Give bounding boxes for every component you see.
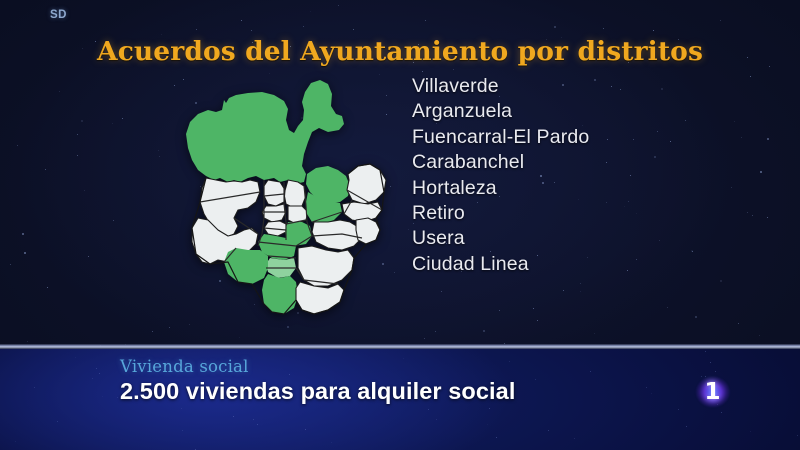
district-list-item: Fuencarral-El Pardo — [412, 125, 712, 150]
district-shape-tetuan — [264, 180, 285, 206]
district-shape-chamberi — [262, 204, 286, 222]
district-list-item: Carabanchel — [412, 150, 712, 175]
district-shape-villa-de-vallecas — [296, 282, 344, 314]
district-shape-chamartin — [284, 180, 306, 208]
district-list-item: Ciudad Linea — [412, 252, 712, 277]
story-headline: 2.500 viviendas para alquiler social — [120, 378, 515, 405]
district-list-item: Retiro — [412, 201, 712, 226]
page-title: Acuerdos del Ayuntamiento por distritos — [0, 36, 800, 67]
channel-logo: 1 — [690, 375, 734, 409]
upper-panel: Acuerdos del Ayuntamiento por distritos — [0, 0, 800, 347]
map-svg — [176, 70, 408, 322]
district-list-item: Hortaleza — [412, 176, 712, 201]
district-list-item: Usera — [412, 226, 712, 251]
madrid-districts-map — [176, 70, 408, 322]
story-kicker: Vivienda social — [120, 357, 249, 376]
district-list-item: Villaverde — [412, 74, 712, 99]
channel-number: 1 — [690, 375, 734, 409]
district-list-item: Arganzuela — [412, 99, 712, 124]
district-list: Villaverde Arganzuela Fuencarral-El Pard… — [412, 74, 712, 277]
quality-badge: SD — [50, 9, 67, 21]
